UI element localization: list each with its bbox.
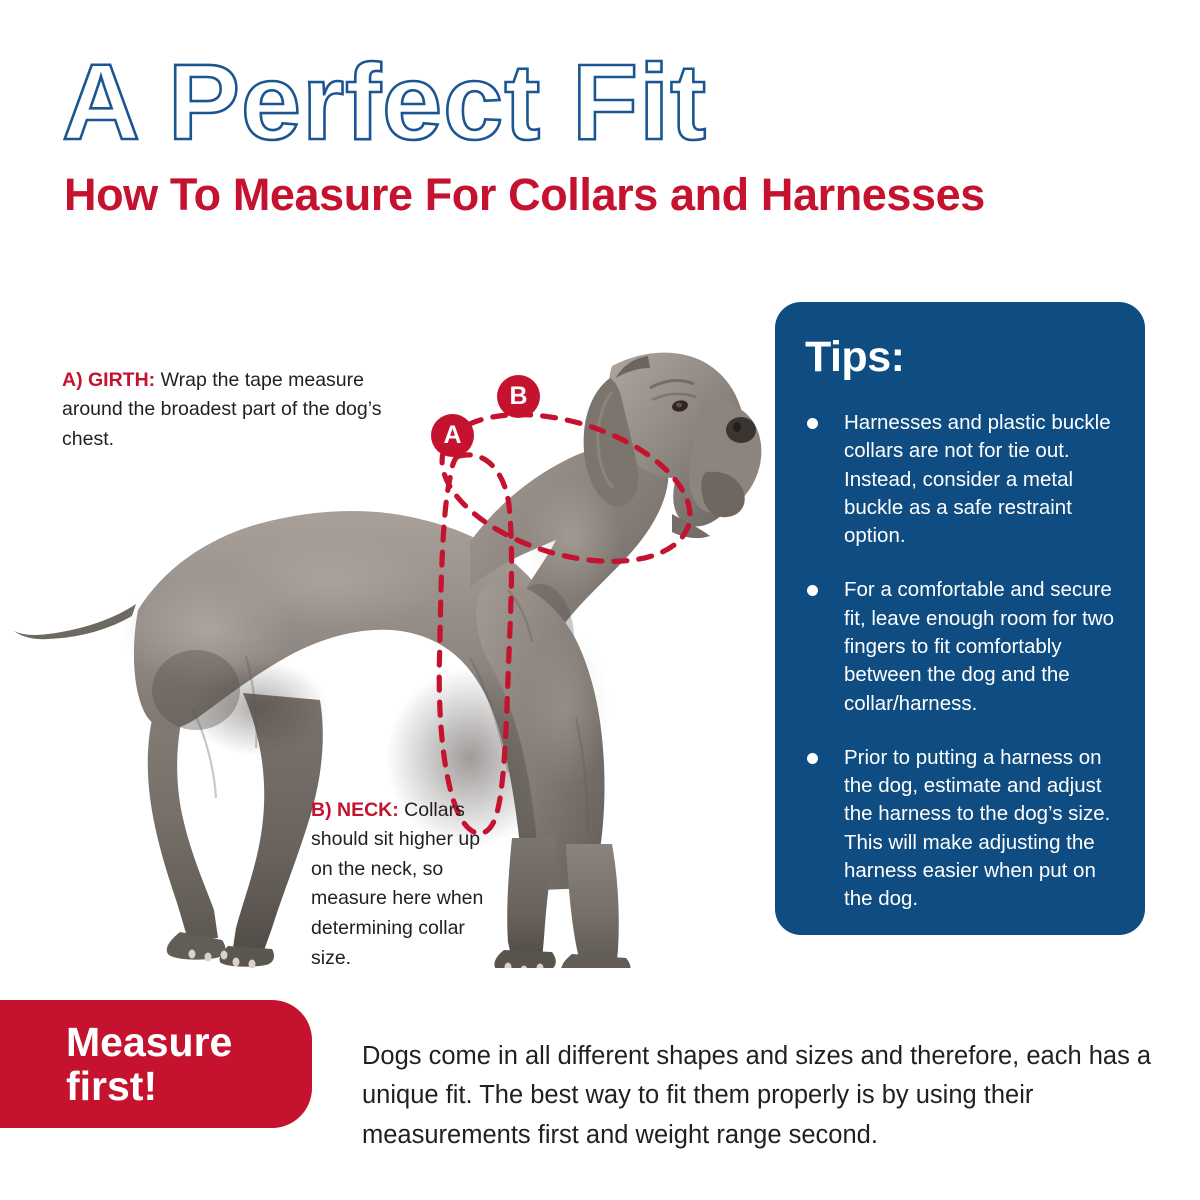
bullet-icon [807,753,818,764]
bullet-icon [807,418,818,429]
marker-b-badge: B [497,375,540,418]
marker-a-badge: A [431,414,474,457]
tip-item: For a comfortable and secure fit, leave … [805,576,1119,717]
tips-list: Harnesses and plastic buckle collars are… [805,409,1119,914]
dog-tail [14,604,136,639]
tips-panel: Tips: Harnesses and plastic buckle colla… [775,302,1145,935]
tip-item-text: Prior to putting a harness on the dog, e… [844,746,1110,910]
tip-item: Prior to putting a harness on the dog, e… [805,744,1119,914]
page-title: A Perfect Fit [62,48,707,156]
measure-first-label: Measure first! [66,1020,232,1109]
neck-callout-body: Collars should sit higher up on the neck… [311,799,483,969]
girth-callout: A) GIRTH: Wrap the tape measure around t… [62,366,382,455]
neck-callout: B) NECK: Collars should sit higher up on… [311,796,507,974]
tip-item-text: For a comfortable and secure fit, leave … [844,578,1114,714]
tips-heading: Tips: [805,336,1119,379]
tip-item: Harnesses and plastic buckle collars are… [805,409,1119,550]
measure-first-badge: Measure first! [0,1000,312,1128]
tip-item-text: Harnesses and plastic buckle collars are… [844,411,1111,547]
bullet-icon [807,585,818,596]
footer-paragraph: Dogs come in all different shapes and si… [362,1037,1157,1156]
neck-callout-lead: B) NECK: [311,799,399,821]
page-subtitle: How To Measure For Collars and Harnesses [64,172,985,217]
girth-callout-lead: A) GIRTH: [62,369,155,391]
